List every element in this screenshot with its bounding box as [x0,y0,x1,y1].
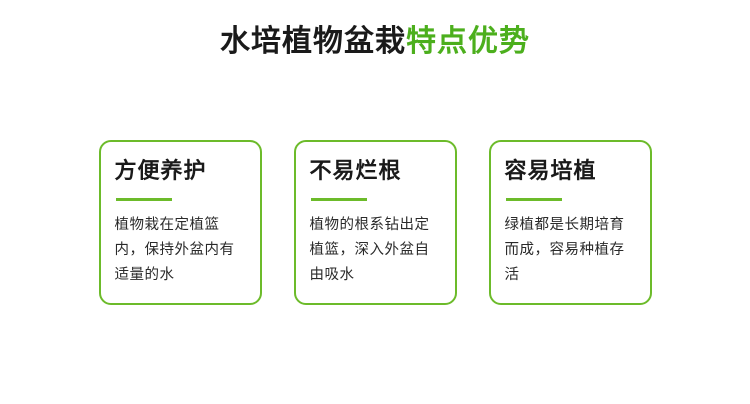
page-title-accent: 特点优势 [406,24,530,59]
title-underline [116,198,172,201]
feature-card-title: 容易培植 [505,158,638,186]
feature-card-body: 植物的根系钻出定植篮，深入外盆自由吸水 [310,213,443,288]
feature-card-title: 方便养护 [115,158,248,186]
title-underline [311,198,367,201]
feature-card-body: 绿植都是长期培育而成，容易种植存活 [505,213,638,288]
feature-card-body: 植物栽在定植篮内，保持外盆内有适量的水 [115,213,248,288]
feature-card-list: 方便养护 植物栽在定植篮内，保持外盆内有适量的水 不易烂根 植物的根系钻出定植篮… [0,140,750,305]
feature-card: 不易烂根 植物的根系钻出定植篮，深入外盆自由吸水 [294,140,457,305]
promo-banner: 水培植物盆栽特点优势 方便养护 植物栽在定植篮内，保持外盆内有适量的水 不易烂根… [0,0,750,404]
feature-card: 方便养护 植物栽在定植篮内，保持外盆内有适量的水 [99,140,262,305]
feature-card: 容易培植 绿植都是长期培育而成，容易种植存活 [489,140,652,305]
title-underline [506,198,562,201]
page-title: 水培植物盆栽特点优势 [0,22,750,62]
page-title-primary: 水培植物盆栽 [220,24,406,59]
feature-card-title: 不易烂根 [310,158,443,186]
